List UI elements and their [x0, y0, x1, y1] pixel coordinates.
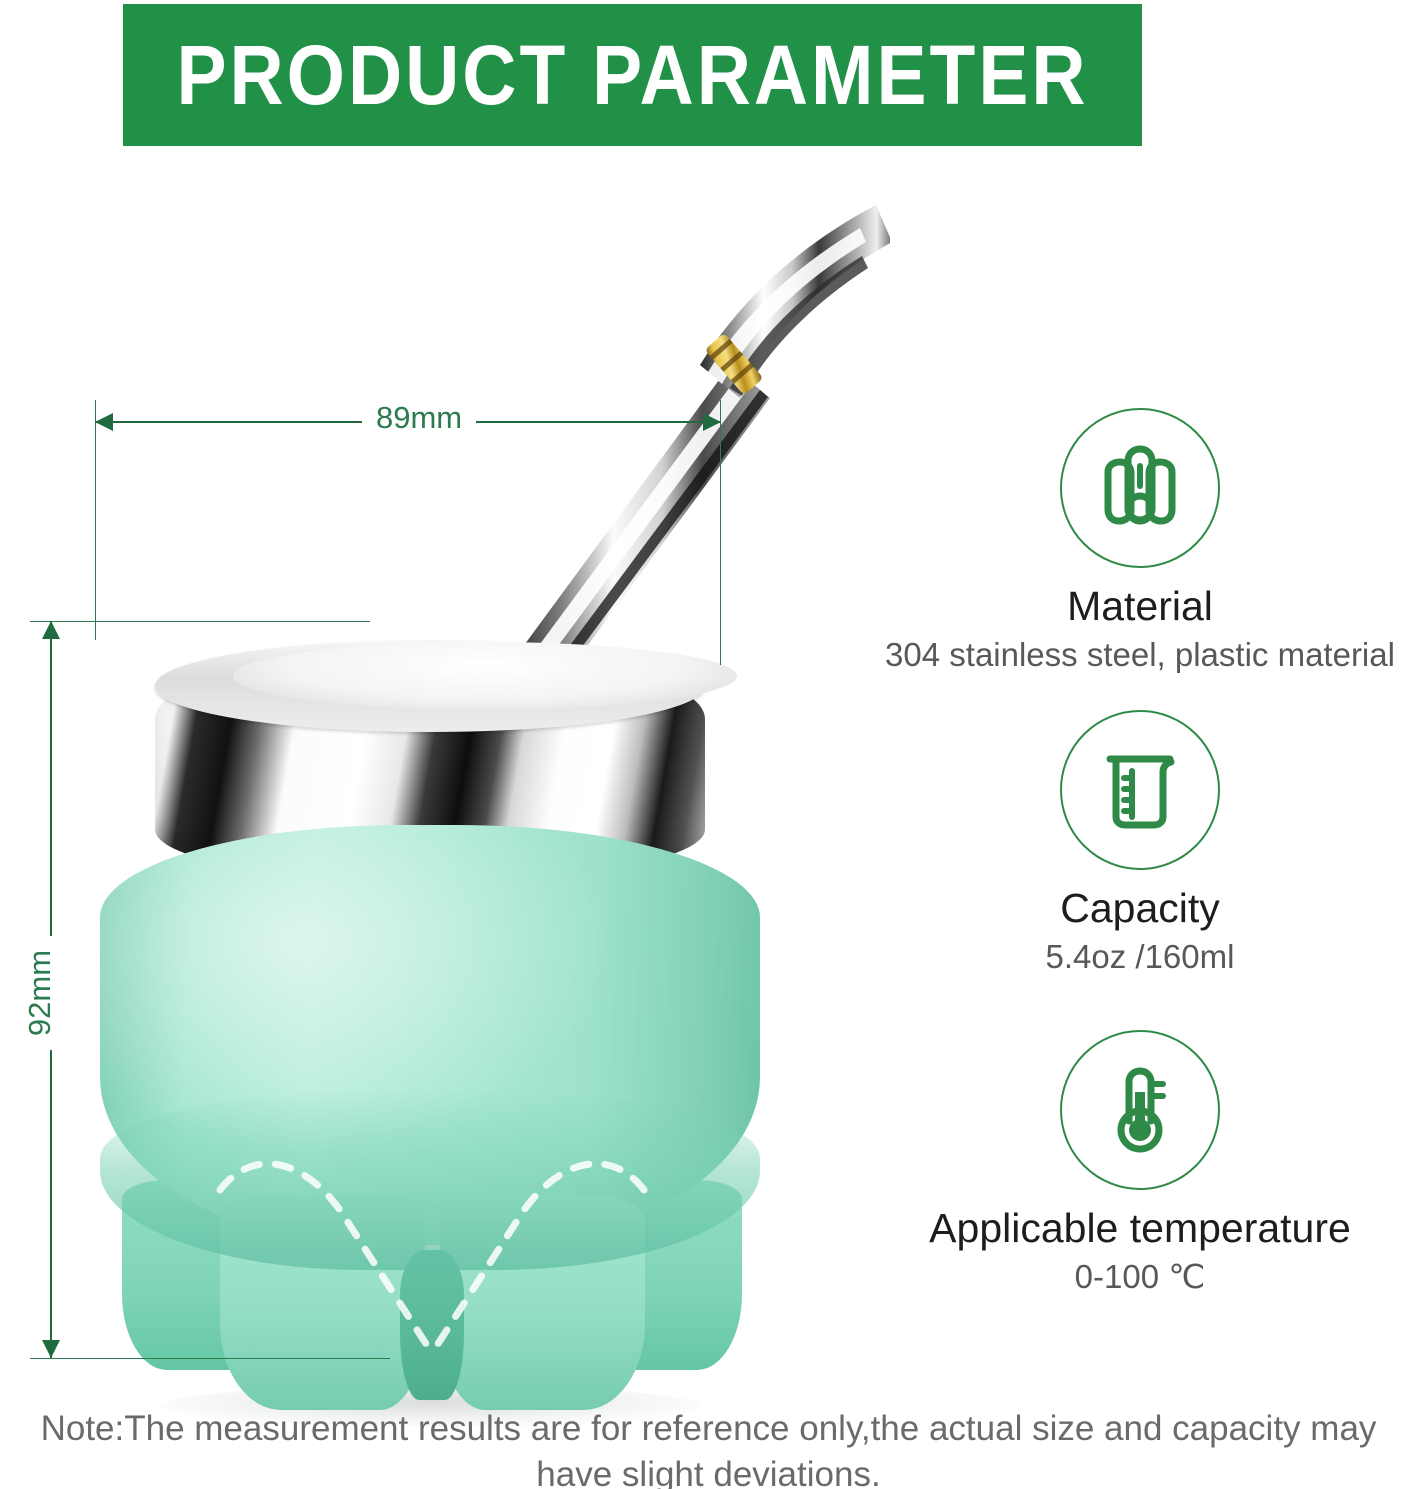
feature-temperature-subtitle: 0-100 ℃ [860, 1258, 1417, 1296]
height-arrow-up-icon [42, 621, 60, 639]
width-arrow-left-icon [95, 413, 113, 431]
width-guide-left-tick [95, 400, 96, 640]
feature-material-title: Material [860, 584, 1417, 629]
product-image [70, 150, 890, 1380]
cup-stitch-detail [100, 650, 760, 1350]
product-parameter-infographic: PRODUCT PARAMETER [0, 0, 1417, 1489]
feature-material: Material 304 stainless steel, plastic ma… [860, 408, 1417, 674]
feature-capacity-subtitle: 5.4oz /160ml [860, 938, 1417, 976]
mate-cup [100, 650, 760, 1350]
measuring-beaker-icon [1088, 738, 1192, 842]
disclaimer-note: Note:The measurement results are for ref… [0, 1406, 1417, 1489]
capacity-icon-circle [1060, 710, 1220, 870]
height-dimension-label: 92mm [22, 936, 58, 1050]
thermometer-icon [1088, 1058, 1192, 1162]
page-title: PRODUCT PARAMETER [176, 33, 1088, 117]
height-arrow-down-icon [42, 1340, 60, 1358]
height-guide-bottom-tick [30, 1358, 390, 1359]
material-icon-circle [1060, 408, 1220, 568]
steel-tubes-icon [1088, 436, 1192, 540]
feature-capacity-title: Capacity [860, 886, 1417, 931]
feature-temperature: Applicable temperature 0-100 ℃ [860, 1030, 1417, 1296]
width-guide-right-tick [720, 400, 721, 665]
feature-material-subtitle: 304 stainless steel, plastic material [860, 636, 1417, 674]
width-arrow-right-icon [703, 413, 721, 431]
feature-temperature-title: Applicable temperature [860, 1206, 1417, 1251]
width-dimension-label: 89mm [362, 400, 476, 436]
feature-capacity: Capacity 5.4oz /160ml [860, 710, 1417, 976]
height-guide-top-tick [30, 621, 370, 622]
temperature-icon-circle [1060, 1030, 1220, 1190]
header-banner: PRODUCT PARAMETER [123, 4, 1142, 146]
